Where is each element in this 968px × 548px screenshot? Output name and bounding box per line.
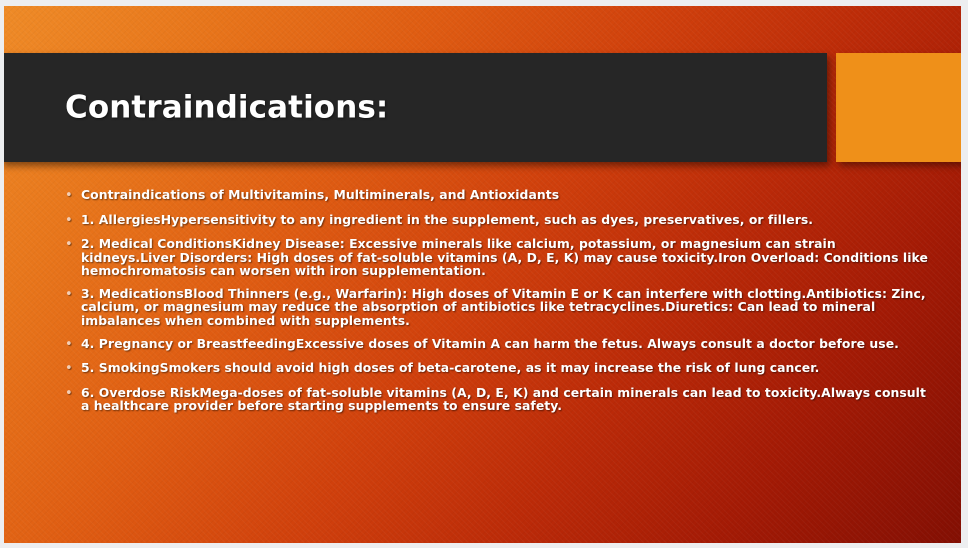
list-item-text: Contraindications of Multivitamins, Mult… <box>81 188 929 202</box>
list-item-text: 1. AllergiesHypersensitivity to any ingr… <box>81 213 929 227</box>
list-item: • 1. AllergiesHypersensitivity to any in… <box>59 213 929 229</box>
list-item: • Contraindications of Multivitamins, Mu… <box>59 188 929 204</box>
list-item-text: 2. Medical ConditionsKidney Disease: Exc… <box>81 237 929 278</box>
bullet-point-icon: • <box>59 337 81 353</box>
bullet-point-icon: • <box>59 386 81 402</box>
bullet-point-icon: • <box>59 361 81 377</box>
list-item-text: 6. Overdose RiskMega-doses of fat-solubl… <box>81 386 929 413</box>
title-band: Contraindications: <box>4 53 827 162</box>
slide-frame: Contraindications: • Contraindications o… <box>0 0 968 548</box>
list-item-text: 4. Pregnancy or BreastfeedingExcessive d… <box>81 337 929 351</box>
list-item-text: 3. MedicationsBlood Thinners (e.g., Warf… <box>81 287 929 328</box>
list-item: • 4. Pregnancy or BreastfeedingExcessive… <box>59 337 929 353</box>
page-title: Contraindications: <box>65 89 388 125</box>
bullet-list: • Contraindications of Multivitamins, Mu… <box>59 188 929 422</box>
bullet-point-icon: • <box>59 188 81 204</box>
list-item: • 3. MedicationsBlood Thinners (e.g., Wa… <box>59 287 929 328</box>
title-accent-block <box>836 53 961 162</box>
bullet-point-icon: • <box>59 237 81 253</box>
list-item: • 2. Medical ConditionsKidney Disease: E… <box>59 237 929 278</box>
list-item: • 5. SmokingSmokers should avoid high do… <box>59 361 929 377</box>
list-item-text: 5. SmokingSmokers should avoid high dose… <box>81 361 929 375</box>
bullet-point-icon: • <box>59 287 81 303</box>
bullet-point-icon: • <box>59 213 81 229</box>
slide-canvas: Contraindications: • Contraindications o… <box>4 6 961 543</box>
list-item: • 6. Overdose RiskMega-doses of fat-solu… <box>59 386 929 413</box>
